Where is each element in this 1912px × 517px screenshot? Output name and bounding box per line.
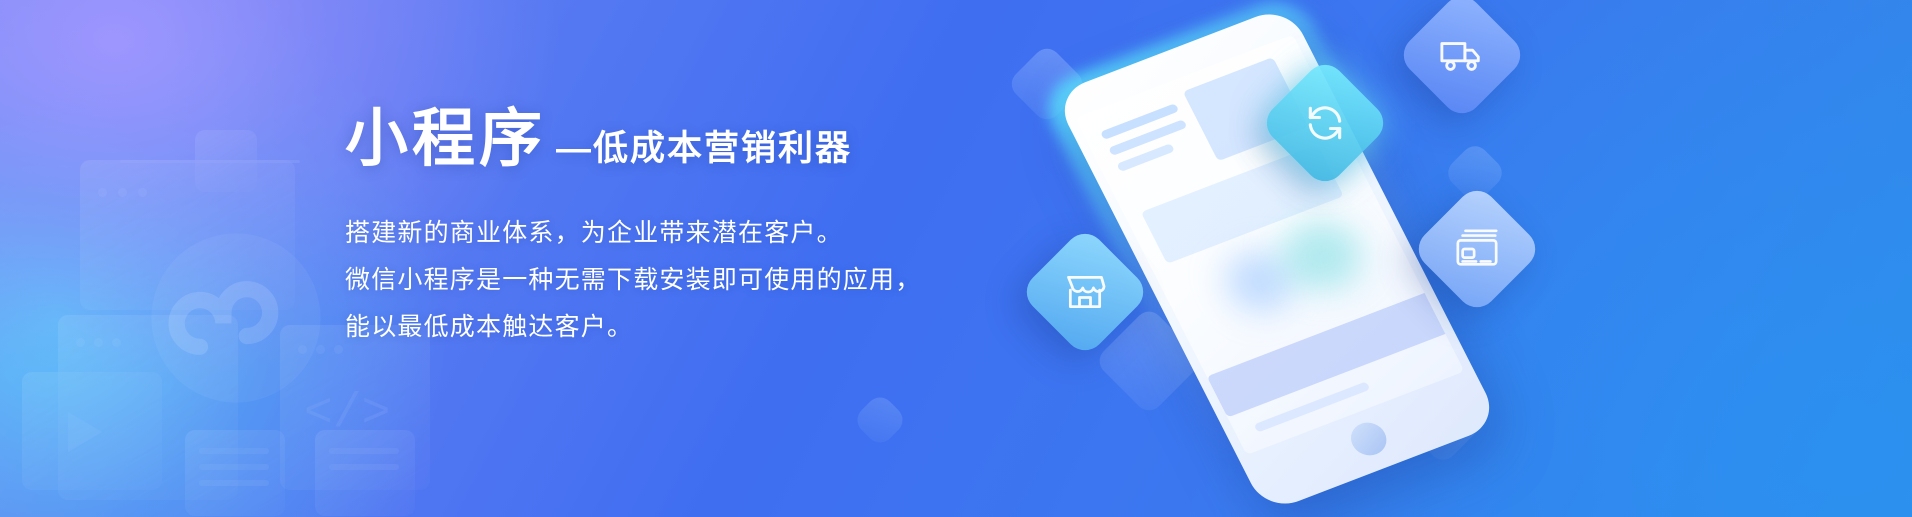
decor-dot	[138, 188, 147, 197]
truck-icon	[1439, 32, 1485, 78]
page-title: 小程序 —低成本营销利器	[345, 108, 965, 171]
description-line: 能以最低成本触达客户。	[345, 304, 965, 351]
decor-dot	[76, 338, 85, 347]
headline-sub: —低成本营销利器	[556, 131, 852, 171]
description-line: 搭建新的商业体系，为企业带来潜在客户。	[345, 210, 965, 257]
decor-diamond	[852, 392, 909, 449]
phone-home-button	[1345, 418, 1392, 461]
card-icon	[1454, 226, 1500, 272]
hero-description: 搭建新的商业体系，为企业带来潜在客户。 微信小程序是一种无需下载安装即可使用的应…	[345, 210, 965, 351]
hero-banner: </> 小程序 —低成本营销利器 搭建新的商业体系，为企业带来潜在客户。 微信小…	[0, 0, 1912, 517]
hero-illustration	[1060, 0, 1620, 517]
hero-copy: 小程序 —低成本营销利器 搭建新的商业体系，为企业带来潜在客户。 微信小程序是一…	[345, 108, 965, 351]
headline-main: 小程序	[345, 108, 546, 171]
decor-list-block	[185, 430, 435, 517]
decor-dot	[98, 188, 107, 197]
phone-screen	[1075, 35, 1464, 455]
shop-icon	[1063, 270, 1107, 314]
description-line: 微信小程序是一种无需下载安装即可使用的应用，	[345, 257, 965, 304]
decor-line	[120, 160, 300, 163]
tile-truck	[1396, 0, 1529, 121]
decor-dot	[118, 188, 127, 197]
refresh-icon	[1303, 101, 1347, 145]
decor-dot	[112, 338, 121, 347]
play-icon	[68, 412, 102, 452]
decor-dot	[94, 338, 103, 347]
